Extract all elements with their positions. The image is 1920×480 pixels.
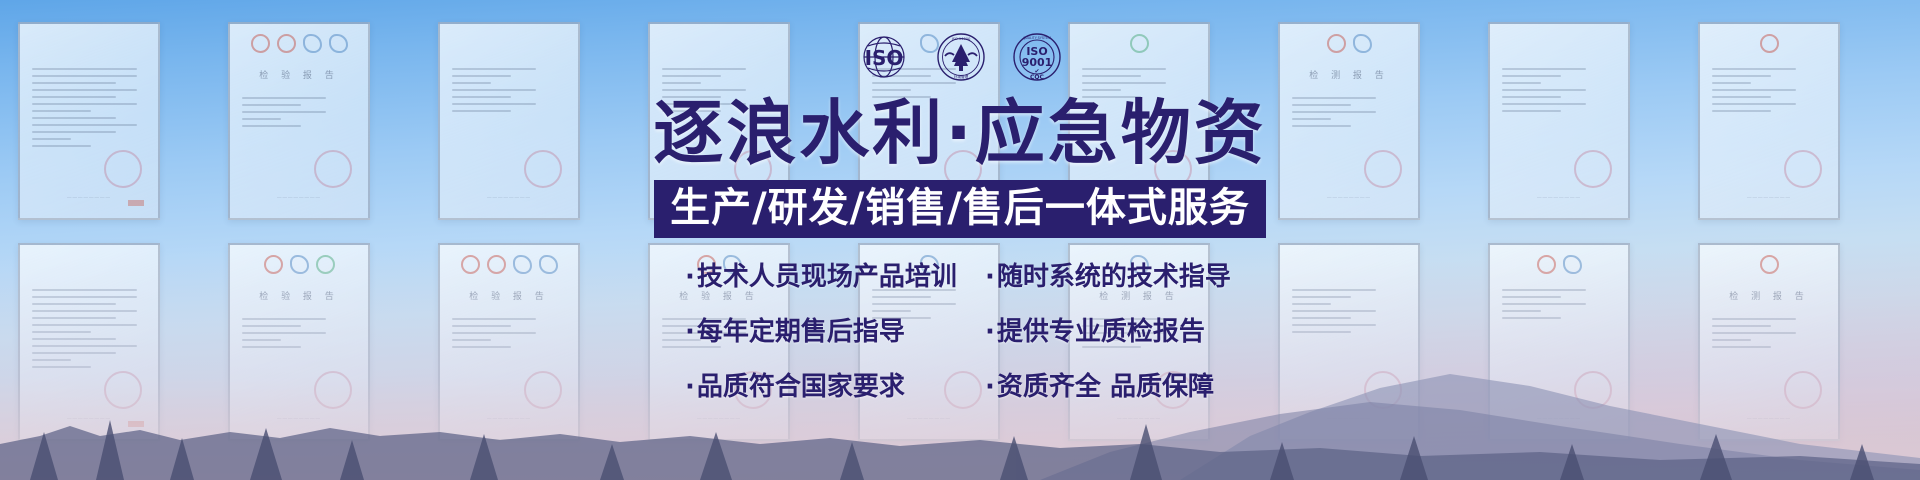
svg-text:CQC: CQC: [1030, 74, 1045, 81]
list-item-label: 品质符合国家要求: [697, 372, 905, 402]
svg-text:QUALITY SYSTEM: QUALITY SYSTEM: [1023, 36, 1051, 40]
bullet-marker-icon: ·: [985, 372, 995, 402]
iso-globe-seal: ISO: [858, 34, 910, 85]
feature-list: ·技术人员现场产品培训 ·随时系统的技术指导 ·每年定期售后指导 ·提供专业质检…: [685, 256, 1235, 403]
list-item-label: 技术人员现场产品培训: [697, 262, 957, 292]
list-item: ·提供专业质检报告: [985, 311, 1235, 348]
iso-14000-seal: ISO 14000 环境管理: [936, 32, 986, 87]
svg-text:ISO 14000: ISO 14000: [952, 37, 971, 41]
svg-text:环境管理: 环境管理: [954, 74, 969, 79]
page-title: 逐浪水利·应急物资: [653, 98, 1267, 168]
bullet-marker-icon: ·: [985, 262, 995, 292]
iso-14000-icon: ISO 14000 环境管理: [936, 32, 986, 82]
certification-seals: ISO ISO 14000 环境管理: [858, 34, 1062, 84]
svg-text:9001: 9001: [1022, 56, 1053, 69]
iso-9001-cqc-seal: ISO 9001 ✔ CQC QUALITY SYSTEM: [1012, 32, 1062, 87]
iso-globe-icon: ISO: [858, 34, 910, 80]
list-item-label: 提供专业质检报告: [997, 317, 1205, 347]
service-badge: 生产/研发/销售/售后一体式服务: [654, 180, 1266, 238]
bullet-marker-icon: ·: [685, 317, 695, 347]
bullet-marker-icon: ·: [685, 262, 695, 292]
list-item: ·品质符合国家要求: [685, 366, 967, 403]
list-item: ·技术人员现场产品培训: [685, 256, 967, 293]
svg-text:ISO: ISO: [865, 46, 904, 70]
list-item-label: 每年定期售后指导: [697, 317, 905, 347]
list-item: ·资质齐全 品质保障: [985, 366, 1235, 403]
list-item-label: 随时系统的技术指导: [997, 262, 1231, 292]
iso-9001-cqc-icon: ISO 9001 ✔ CQC QUALITY SYSTEM: [1012, 32, 1062, 82]
banner-content: ISO ISO 14000 环境管理: [0, 0, 1920, 480]
list-item: ·随时系统的技术指导: [985, 256, 1235, 293]
bullet-marker-icon: ·: [985, 317, 995, 347]
list-item-label: 资质齐全 品质保障: [997, 372, 1214, 402]
list-item: ·每年定期售后指导: [685, 311, 967, 348]
bullet-marker-icon: ·: [685, 372, 695, 402]
promo-banner: ————————检 验 报 告—————————————————————————…: [0, 0, 1920, 480]
